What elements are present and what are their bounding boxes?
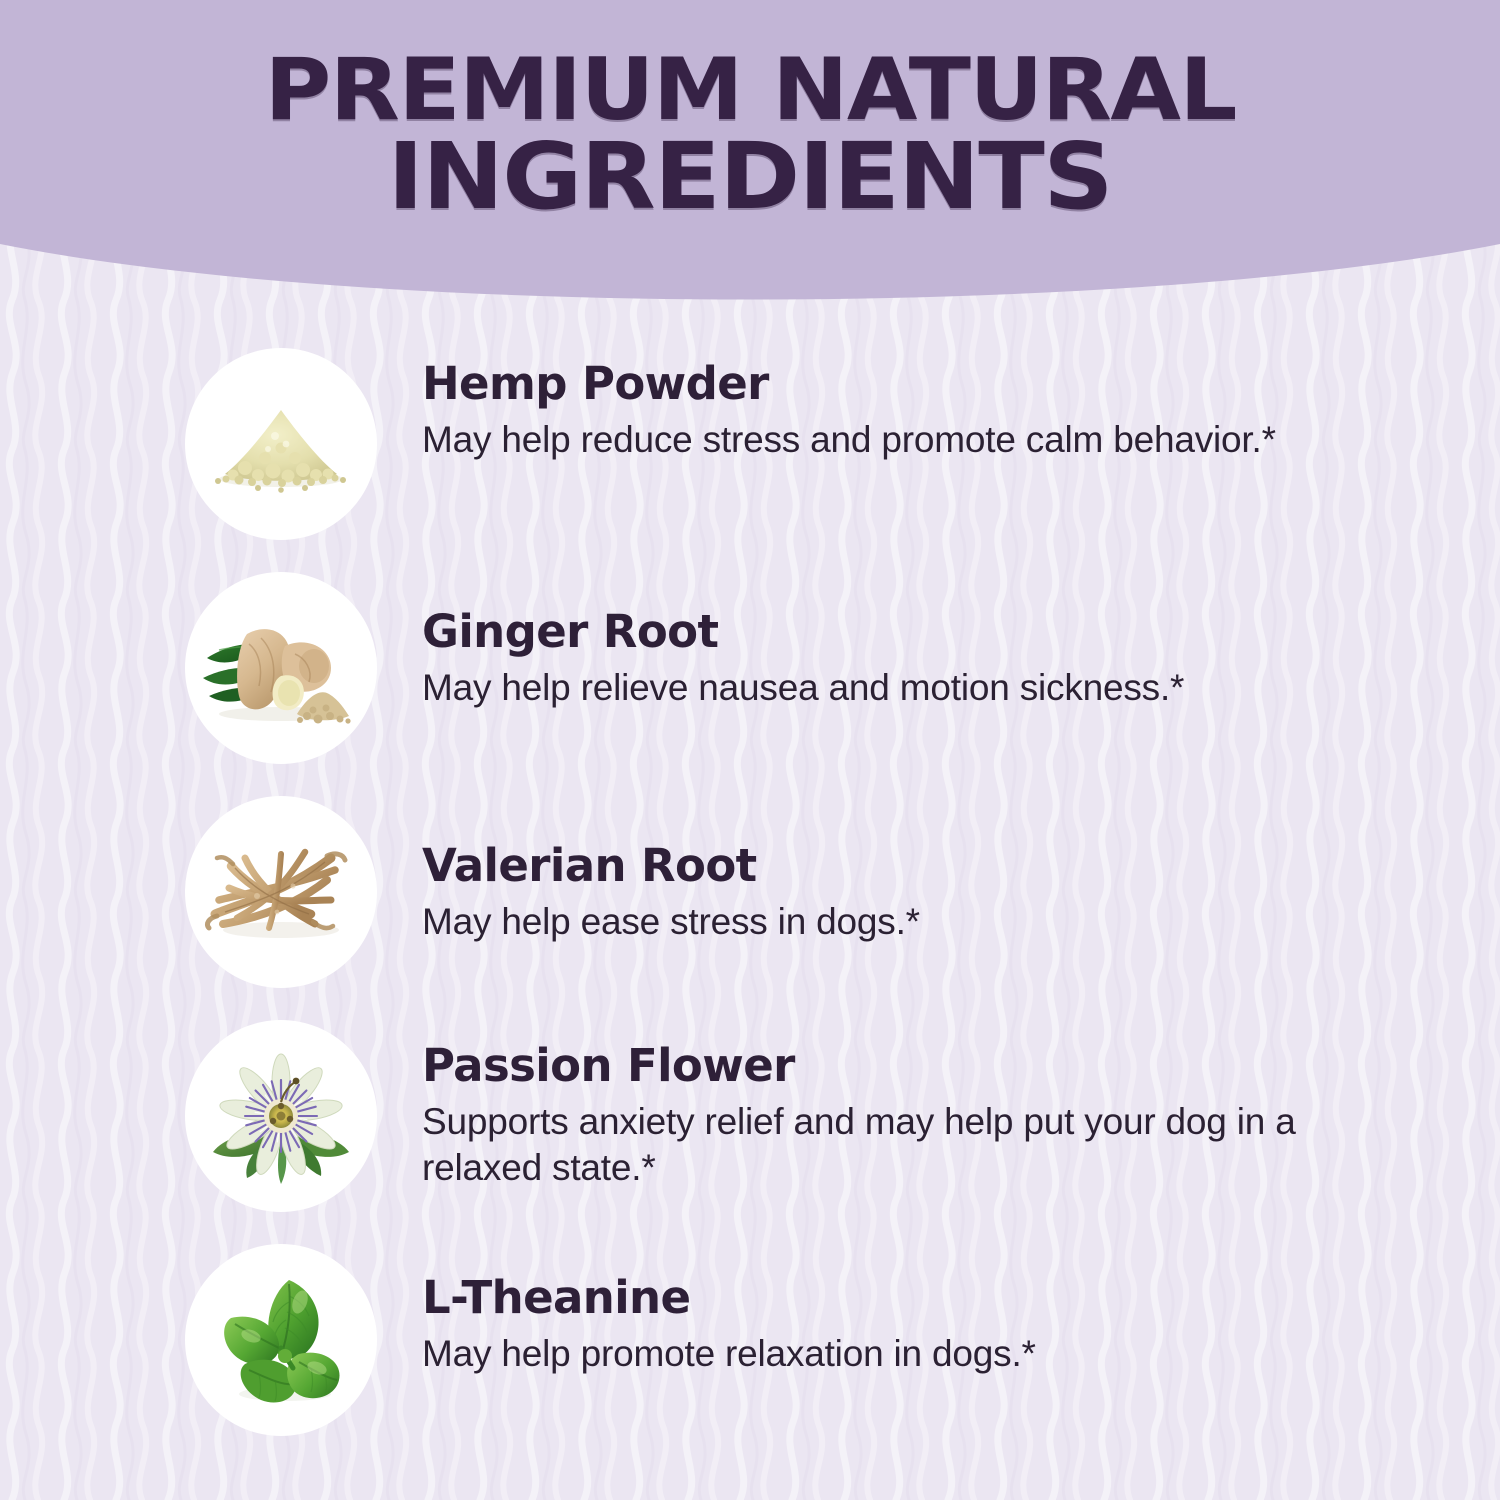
ingredient-description: May help promote relaxation in dogs.*	[422, 1331, 1402, 1377]
ginger-root-icon	[185, 572, 377, 764]
ingredient-thumbnail-wrap	[185, 1020, 377, 1212]
ingredient-thumbnail-wrap	[185, 1244, 377, 1436]
ingredient-text: Passion Flower Supports anxiety relief a…	[422, 1020, 1432, 1191]
passion-flower-icon	[185, 1020, 377, 1212]
ingredient-thumbnail-wrap	[185, 796, 377, 988]
ingredient-row: Valerian Root May help ease stress in do…	[0, 796, 1500, 1020]
valerian-root-circle	[185, 796, 377, 988]
ingredient-name: Valerian Root	[422, 842, 1432, 889]
ingredient-row: Passion Flower Supports anxiety relief a…	[0, 1020, 1500, 1244]
ingredient-description: May help reduce stress and promote calm …	[422, 417, 1402, 463]
passion-flower-circle	[185, 1020, 377, 1212]
valerian-root-icon	[185, 796, 377, 988]
ingredient-name: Passion Flower	[422, 1042, 1432, 1089]
ingredient-thumbnail-wrap	[185, 348, 377, 540]
ingredient-row: Hemp Powder May help reduce stress and p…	[0, 348, 1500, 572]
header-banner: PREMIUM NATURAL INGREDIENTS	[0, 0, 1500, 330]
hemp-powder-circle	[185, 348, 377, 540]
ingredient-row: L-Theanine May help promote relaxation i…	[0, 1244, 1500, 1468]
l-theanine-leaf-icon	[185, 1244, 377, 1436]
ginger-root-circle	[185, 572, 377, 764]
ingredient-list: Hemp Powder May help reduce stress and p…	[0, 348, 1500, 1468]
ingredient-text: Valerian Root May help ease stress in do…	[422, 796, 1432, 945]
ingredient-name: Ginger Root	[422, 608, 1432, 655]
hemp-powder-icon	[185, 348, 377, 540]
ingredient-description: Supports anxiety relief and may help put…	[422, 1099, 1402, 1191]
ingredient-name: Hemp Powder	[422, 360, 1432, 407]
ingredient-description: May help relieve nausea and motion sickn…	[422, 665, 1402, 711]
ingredient-text: Hemp Powder May help reduce stress and p…	[422, 348, 1432, 463]
ingredient-text: L-Theanine May help promote relaxation i…	[422, 1244, 1432, 1377]
ingredient-name: L-Theanine	[422, 1274, 1432, 1321]
ingredient-row: Ginger Root May help relieve nausea and …	[0, 572, 1500, 796]
header-curve-shape	[0, 0, 1500, 330]
ingredient-description: May help ease stress in dogs.*	[422, 899, 1402, 945]
ingredient-text: Ginger Root May help relieve nausea and …	[422, 572, 1432, 711]
ingredient-thumbnail-wrap	[185, 572, 377, 764]
l-theanine-circle	[185, 1244, 377, 1436]
